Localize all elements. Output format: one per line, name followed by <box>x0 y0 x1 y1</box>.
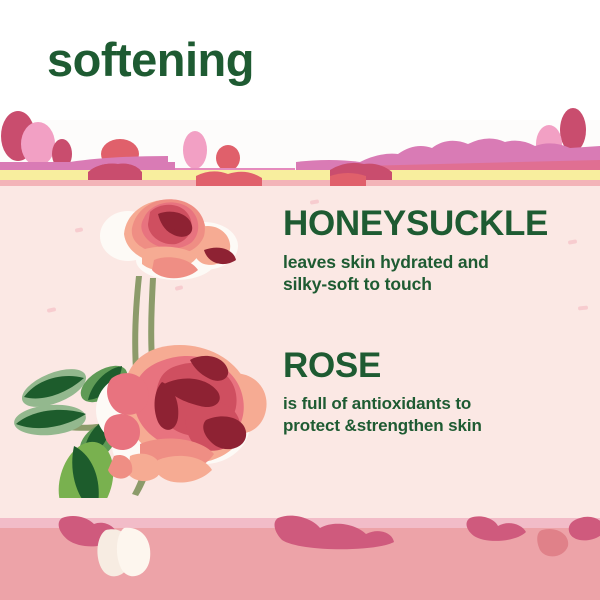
ingredient-description-rose: is full of antioxidants to protect &stre… <box>283 393 588 436</box>
ingredient-honeysuckle: HONEYSUCKLE leaves skin hydrated and sil… <box>283 206 588 296</box>
product-infographic: softening <box>0 0 600 600</box>
ingredient-title-rose: ROSE <box>283 348 588 385</box>
ingredient-title-honeysuckle: HONEYSUCKLE <box>283 206 588 243</box>
ingredient-description-honeysuckle: leaves skin hydrated and silky-soft to t… <box>283 252 588 296</box>
description-line-1: is full of antioxidants to <box>283 393 588 414</box>
ingredients-text-column: HONEYSUCKLE leaves skin hydrated and sil… <box>283 206 588 436</box>
description-line-2: protect &strengthen skin <box>283 415 588 436</box>
ingredient-rose: ROSE is full of antioxidants to protect … <box>283 348 588 436</box>
roses-illustration <box>8 188 298 498</box>
ingredients-panel: HONEYSUCKLE leaves skin hydrated and sil… <box>0 188 600 498</box>
description-line-2: silky-soft to touch <box>283 274 588 296</box>
footer-bands <box>0 498 600 600</box>
landscape-illustration <box>0 96 600 190</box>
description-line-1: leaves skin hydrated and <box>283 252 588 274</box>
page-title: softening <box>47 36 254 83</box>
